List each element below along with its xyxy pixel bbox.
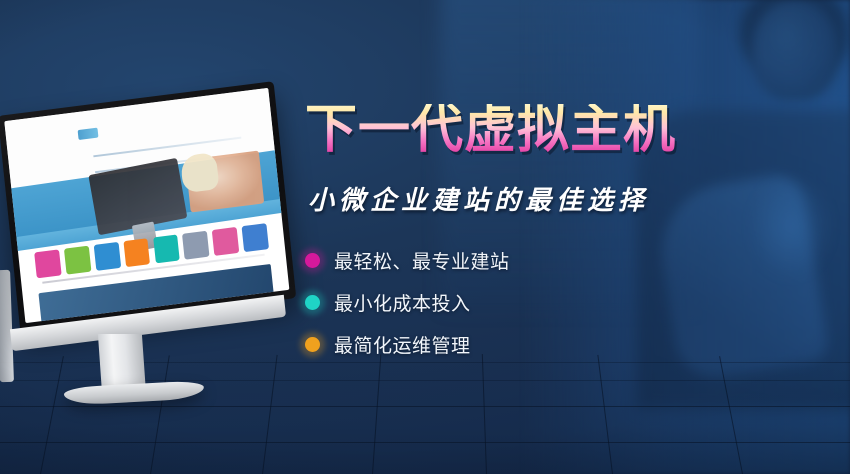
list-item-label: 最简化运维管理 <box>334 331 471 358</box>
monitor-bezel <box>0 81 296 333</box>
page-subtitle: 小微企业建站的最佳选择 <box>308 180 649 217</box>
monitor-screen <box>4 88 289 323</box>
list-item: 最轻松、最专业建站 <box>305 247 510 274</box>
bullet-dot-teal <box>305 295 320 310</box>
website-app-icon <box>182 231 209 260</box>
floor-hline <box>0 406 850 407</box>
imac-monitor <box>8 88 298 388</box>
website-app-icon <box>212 227 239 256</box>
list-item: 最简化运维管理 <box>305 331 510 358</box>
website-app-icon <box>242 223 269 252</box>
website-app-icon <box>123 238 150 267</box>
page-title: 下一代虚拟主机 <box>305 104 676 156</box>
monitor-left-edge <box>0 270 14 382</box>
list-item: 最小化成本投入 <box>305 289 510 316</box>
bullet-dot-magenta <box>305 253 320 268</box>
website-app-icon <box>93 242 120 271</box>
website-person-photo <box>185 150 264 212</box>
person-glow <box>731 152 850 302</box>
feature-list: 最轻松、最专业建站 最小化成本投入 最简化运维管理 <box>305 247 510 358</box>
floor-hline <box>0 442 850 443</box>
website-app-icon <box>34 249 61 278</box>
website-app-icon <box>64 246 91 275</box>
hero-banner: 下一代虚拟主机 小微企业建站的最佳选择 最轻松、最专业建站 最小化成本投入 最简… <box>0 0 850 474</box>
list-item-label: 最小化成本投入 <box>334 289 471 316</box>
website-app-icon <box>153 234 180 263</box>
bullet-dot-orange <box>305 337 320 352</box>
list-item-label: 最轻松、最专业建站 <box>334 247 510 274</box>
person-head <box>752 0 838 100</box>
